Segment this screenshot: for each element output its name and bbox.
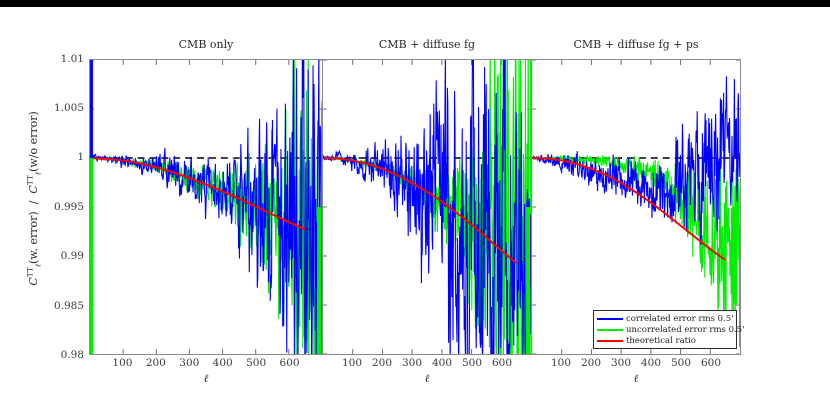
x-tick-labels-3: 100200300400500600 [531, 357, 741, 371]
y-tick: 0.99 [38, 250, 84, 262]
legend: correlated error rms 0.5' uncorrelated e… [593, 310, 737, 349]
legend-label: uncorrelated error rms 0.5' [626, 325, 744, 335]
y-tick: 0.98 [38, 349, 84, 361]
legend-label: correlated error rms 0.5' [626, 314, 734, 324]
x-tick: 100 [551, 357, 571, 369]
x-tick: 100 [112, 357, 132, 369]
x-tick: 300 [179, 357, 199, 369]
panel-title-1: CMB only [89, 38, 323, 51]
x-tick: 500 [671, 357, 691, 369]
panel-title-2: CMB + diffuse fg [322, 38, 532, 51]
legend-swatch-theoretical [597, 340, 623, 342]
legend-swatch-uncorrelated [597, 329, 623, 331]
y-tick: 1 [38, 151, 84, 163]
x-axis-label-1: ℓ [89, 372, 323, 385]
x-tick: 400 [432, 357, 452, 369]
x-tick: 300 [402, 357, 422, 369]
legend-item: correlated error rms 0.5' [597, 313, 733, 324]
x-axis-label-3: ℓ [531, 372, 741, 385]
legend-item: theoretical ratio [597, 335, 733, 346]
x-axis-label-2: ℓ [322, 372, 532, 385]
x-tick-labels-1: 100200300400500600 [89, 357, 323, 371]
x-tick: 600 [701, 357, 721, 369]
legend-swatch-correlated [597, 318, 623, 320]
y-tick: 1.005 [38, 102, 84, 114]
panel-title-3: CMB + diffuse fg + ps [531, 38, 741, 51]
y-tick: 1.01 [38, 53, 84, 65]
legend-label: theoretical ratio [626, 336, 696, 346]
plot-panel-cmb-diffuse-fg [322, 59, 532, 355]
x-tick: 500 [462, 357, 482, 369]
legend-item: uncorrelated error rms 0.5' [597, 324, 733, 335]
x-tick: 100 [342, 357, 362, 369]
x-tick: 500 [246, 357, 266, 369]
x-tick: 200 [372, 357, 392, 369]
x-tick: 200 [146, 357, 166, 369]
x-tick: 600 [492, 357, 512, 369]
y-tick: 0.995 [38, 201, 84, 213]
x-tick-labels-2: 100200300400500600 [322, 357, 532, 371]
y-tick: 0.985 [38, 300, 84, 312]
x-tick: 400 [213, 357, 233, 369]
x-tick: 600 [280, 357, 300, 369]
x-tick: 300 [611, 357, 631, 369]
y-tick-labels: 1.01 1.005 1 0.995 0.99 0.985 0.98 [38, 0, 84, 409]
plot-panel-cmb-only [89, 59, 323, 355]
figure-canvas: CTTℓ(w. error) / CTTℓ(w/o error) 1.01 1.… [0, 0, 830, 409]
x-tick: 200 [581, 357, 601, 369]
x-tick: 400 [641, 357, 661, 369]
